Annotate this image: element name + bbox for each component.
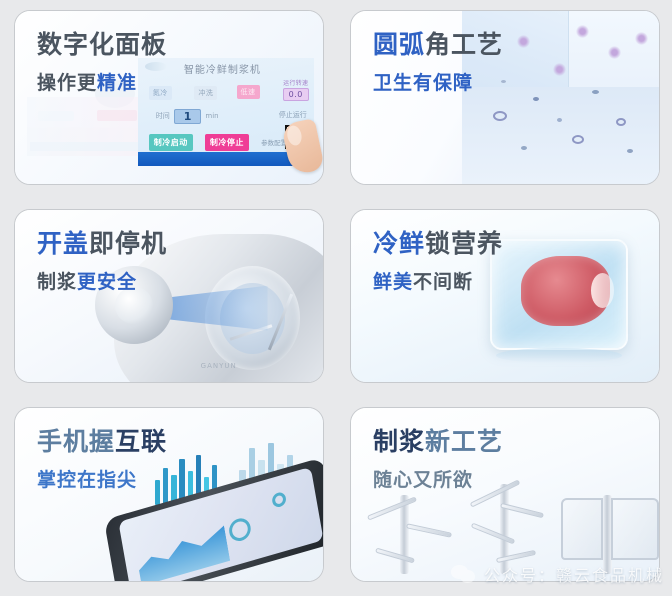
card-title: 圆弧角工艺 [373,31,503,59]
hmi-status-text: 停止运行 [279,110,307,120]
card-text-block: 制浆新工艺 随心又所欲 [373,428,503,492]
card-text-block: 冷鲜锁营养 鲜美不间断 [373,230,503,294]
card-title: 数字化面板 [37,31,167,59]
card-title: 手机握互联 [37,428,167,456]
hmi-time-input[interactable]: 1 [174,109,202,124]
feature-card-grid: 智能冷鲜制浆机 氮冷 冲洗 低速 运行转速 0.0 时间 1 min 停止运行 … [0,0,672,596]
hmi-time-label: 时间 [156,111,170,121]
hmi-device-title: 智能冷鲜制浆机 [184,61,261,76]
card-subtitle: 掌控在指尖 [37,465,167,492]
watermark-text: 公众号：赣云食品机械 [484,562,664,586]
card-subtitle: 制浆更安全 [37,267,167,294]
blade-tool-1 [382,495,448,574]
card-cell-mobile-iot: 手机握互联 掌控在指尖 [0,397,336,596]
hmi-start-cooling-button[interactable]: 制冷启动 [149,134,193,151]
card-mobile-iot[interactable]: 手机握互联 掌控在指尖 [14,407,324,582]
hmi-stop-cooling-button[interactable]: 制冷停止 [205,134,249,151]
card-subtitle: 操作更精准 [37,68,167,95]
card-text-block: 圆弧角工艺 卫生有保障 [373,31,503,95]
card-title: 冷鲜锁营养 [373,230,503,258]
card-text-block: 开盖即停机 制浆更安全 [37,230,167,294]
card-title: 制浆新工艺 [373,428,503,456]
card-text-block: 数字化面板 操作更精准 [37,31,167,95]
hmi-button-low-speed[interactable]: 低速 [237,85,260,99]
card-cell-rounded-corner: 圆弧角工艺 卫生有保障 [336,0,672,199]
card-cold-fresh-nutrition[interactable]: 冷鲜锁营养 鲜美不间断 [350,209,660,384]
card-cell-cold-fresh: 冷鲜锁营养 鲜美不间断 [336,199,672,398]
card-subtitle: 鲜美不间断 [373,267,503,294]
card-cell-lid-auto-stop: GANYUN 开盖即停机 制浆更安全 [0,199,336,398]
card-rounded-corner[interactable]: 圆弧角工艺 卫生有保障 [350,10,660,185]
ice-cube-illustration [490,239,629,350]
hmi-speed-value: 0.0 [283,88,309,101]
wechat-icon [451,563,477,585]
watermark: 公众号：赣云食品机械 [451,562,664,586]
blade-tool-2 [480,484,546,574]
card-new-pulping-process[interactable]: 制浆新工艺 随心又所欲 [350,407,660,582]
meat-illustration [521,256,610,326]
card-subtitle: 卫生有保障 [373,68,503,95]
hmi-speed-label: 运行转速 [283,78,309,87]
card-digital-panel[interactable]: 智能冷鲜制浆机 氮冷 冲洗 低速 运行转速 0.0 时间 1 min 停止运行 … [14,10,324,185]
card-subtitle: 随心又所欲 [373,465,503,492]
card-cell-digital-panel: 智能冷鲜制浆机 氮冷 冲洗 低速 运行转速 0.0 时间 1 min 停止运行 … [0,0,336,199]
card-lid-auto-stop[interactable]: GANYUN 开盖即停机 制浆更安全 [14,209,324,384]
hmi-speed-readout: 运行转速 0.0 [279,76,313,103]
card-text-block: 手机握互联 掌控在指尖 [37,428,167,492]
hmi-time-row: 时间 1 min [156,109,219,124]
hmi-time-unit: min [205,112,218,120]
hmi-button-rinse[interactable]: 冲洗 [194,86,217,100]
card-title: 开盖即停机 [37,230,167,258]
machine-brand-badge: GANYUN [201,362,237,370]
